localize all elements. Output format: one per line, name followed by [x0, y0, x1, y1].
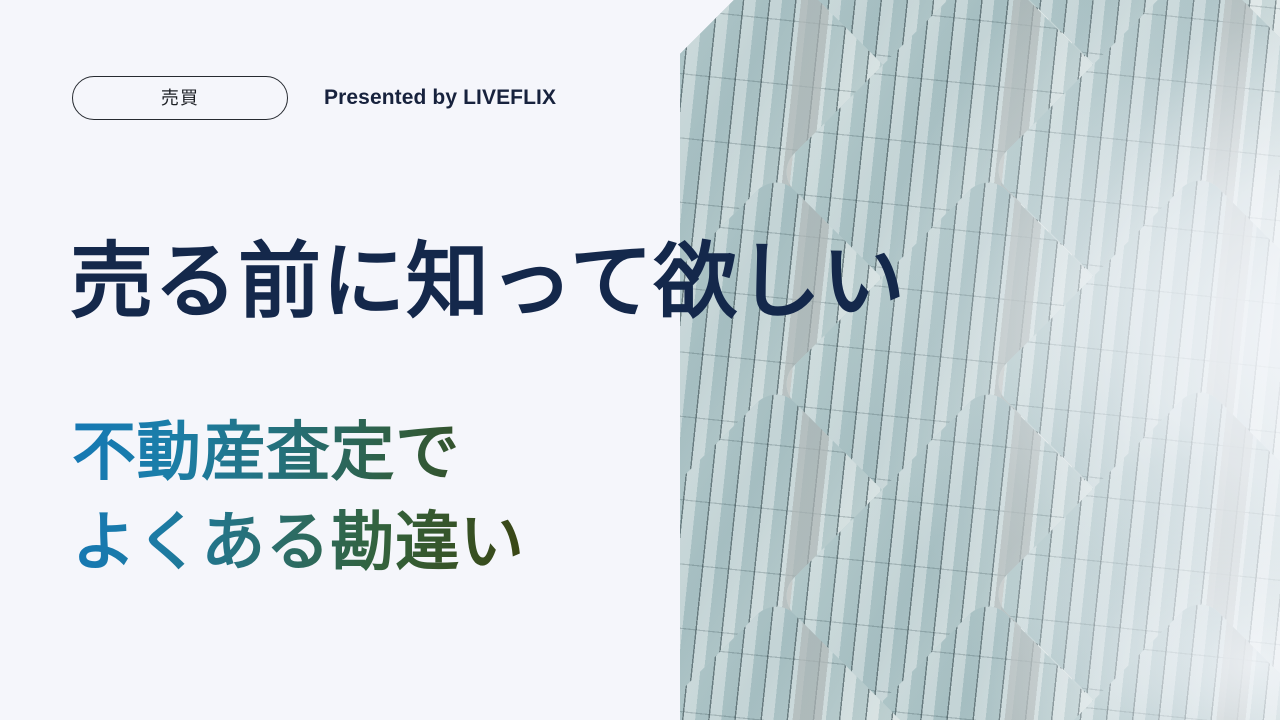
page-subtitle: 不動産査定で よくある勘違い	[72, 408, 524, 587]
presented-by-label: Presented by LIVEFLIX	[324, 86, 556, 110]
slide-header: 売買 Presented by LIVEFLIX	[72, 76, 556, 120]
presentation-slide: 売買 Presented by LIVEFLIX 売る前に知って欲しい 不動産査…	[0, 0, 1280, 720]
category-badge[interactable]: 売買	[72, 76, 288, 120]
page-title: 売る前に知って欲しい	[70, 236, 906, 329]
diamond-photo-mosaic	[680, 0, 1280, 720]
mosaic-tiles	[680, 0, 1280, 720]
subtitle-line-2: よくある勘違い	[72, 498, 524, 588]
subtitle-line-1: 不動産査定で	[72, 408, 524, 498]
